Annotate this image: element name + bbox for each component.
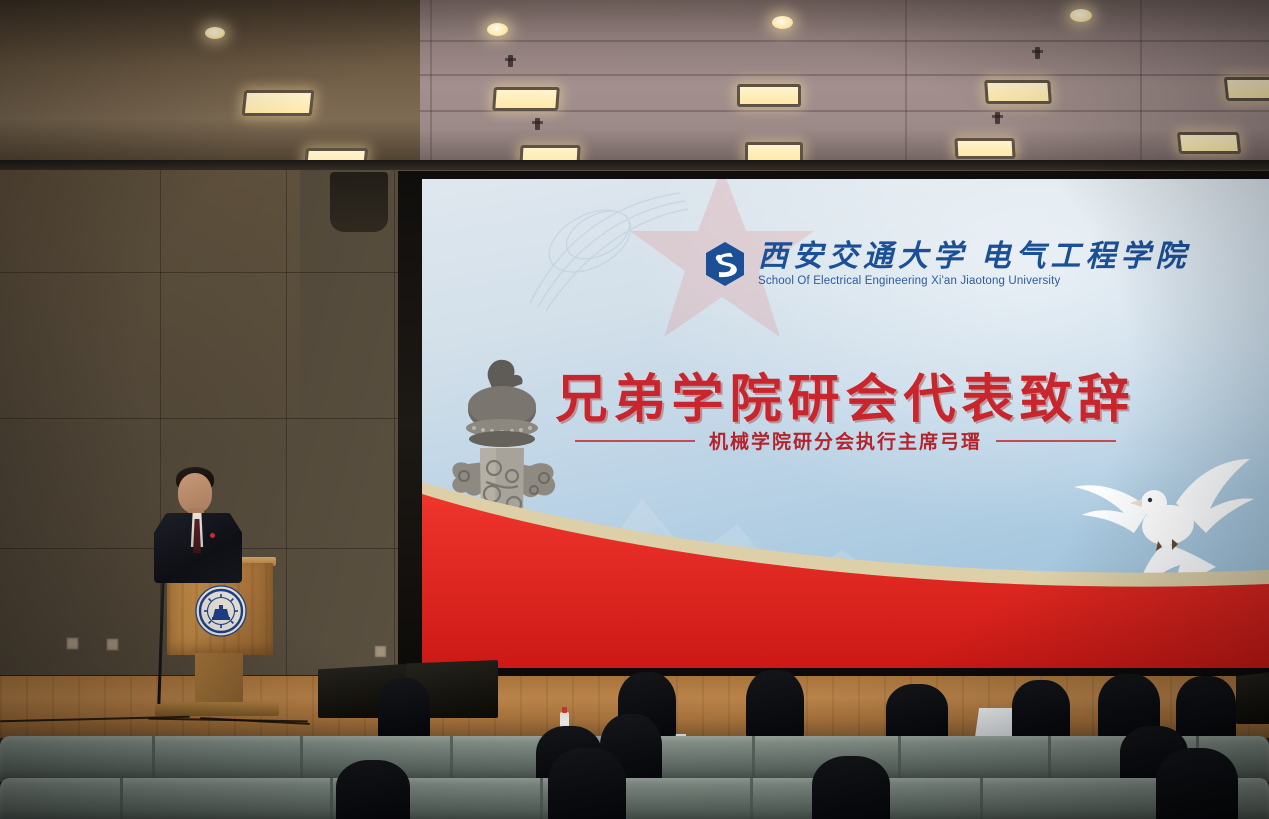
wall-seam [394,170,395,675]
wall-outlet[interactable] [106,638,119,651]
ceiling [0,0,1269,165]
org-logo-english: School Of Electrical Engineering Xi'an J… [758,275,1191,287]
audience-seat-row [0,778,1269,819]
ceiling-panel-light [984,80,1052,104]
red-ribbon-band [422,438,1269,668]
speaker-person [150,505,246,580]
ceiling-panel-light [492,87,560,111]
round-downlight-icon [1070,9,1092,22]
ceiling-panel-light [737,84,801,107]
audience-person [1156,748,1238,819]
audience-person [336,760,410,819]
audience-person [378,678,430,738]
lapel-pin-icon [210,533,215,538]
round-downlight-icon [772,16,793,29]
stage-monitor-speaker [1236,672,1269,724]
sprinkler-icon [508,55,513,67]
wall-mounted-speaker [330,172,388,232]
podium-neck [195,653,243,705]
sprinkler-icon [1035,47,1040,59]
ceiling-panel-light [242,90,315,116]
org-logo-chinese: 西安交通大学 电气工程学院 [758,241,1191,272]
slide-main-title: 兄弟学院研会代表致辞 [422,357,1269,432]
org-logo: 西安交通大学 电气工程学院 School Of Electrical Engin… [704,241,1191,287]
round-downlight-icon [487,23,508,36]
ceiling-panel-light [954,138,1015,159]
ceiling-panel-light [1177,132,1241,154]
sprinkler-icon [995,112,1000,124]
audience-person [548,748,626,819]
wall-seam [0,418,430,419]
audience-person [886,684,948,740]
led-screen[interactable]: 西安交通大学 电气工程学院 School Of Electrical Engin… [422,179,1269,668]
round-downlight-icon [205,27,225,39]
wall-seam [286,170,287,675]
audience-person [1012,680,1070,740]
wall-outlet[interactable] [374,645,387,658]
person-head [178,473,212,513]
audience-person [812,756,890,819]
auditorium-photo: 西安交通大学 电气工程学院 School Of Electrical Engin… [0,0,1269,819]
xjtu-seal-icon [195,585,247,637]
audience-person [1176,676,1236,740]
podium-base [155,702,279,716]
wall-seam [0,272,430,273]
audience-person [746,670,804,738]
swirl-watermark-icon [520,183,690,313]
hexagon-logo-icon [704,241,746,287]
sprinkler-icon [535,118,540,130]
led-screen-bezel: 西安交通大学 电气工程学院 School Of Electrical Engin… [398,171,1269,676]
ceiling-panel-light [1224,77,1269,101]
wall-outlet[interactable] [66,637,79,650]
ceiling-left-section [0,0,420,165]
